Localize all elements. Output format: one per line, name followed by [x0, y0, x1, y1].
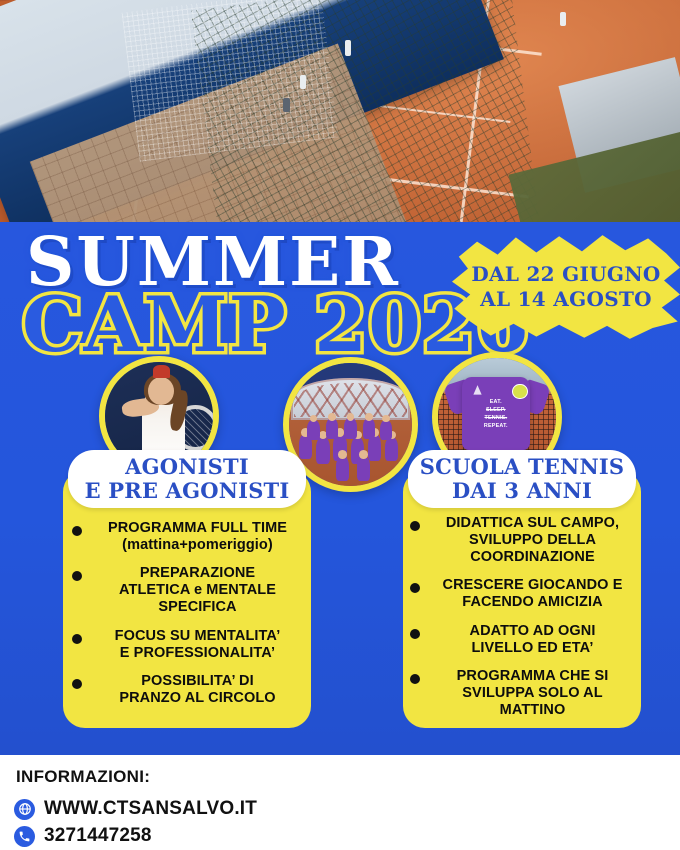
date-badge: DAL 22 GIUGNO AL 14 AGOSTO: [452, 233, 680, 341]
list-item-label: PROGRAMMA FULL TIME (mattina+pomeriggio): [91, 520, 304, 554]
camp-kid-head: [365, 413, 372, 420]
list-item-label: POSSIBILITA’ DI PRANZO AL CIRCOLO: [91, 673, 304, 707]
panel-scuola-tennis-list: DIDATTICA SUL CAMPO, SVILUPPO DELLA COOR…: [410, 515, 636, 730]
list-item: PREPARAZIONE ATLETICA e MENTALE SPECIFIC…: [72, 565, 304, 616]
camp-kid-head: [347, 413, 354, 420]
date-badge-text: DAL 22 GIUGNO AL 14 AGOSTO: [471, 262, 660, 312]
panel-agonisti-list: PROGRAMMA FULL TIME (mattina+pomeriggio)…: [72, 520, 304, 718]
panel-agonisti-heading: AGONISTI E PRE AGONISTI: [85, 455, 290, 503]
person-figure: [345, 40, 351, 56]
heading-line1: SCUOLA TENNIS: [420, 455, 624, 479]
footer: INFORMAZIONI: WWW.CTSANSALVO.IT 32714472…: [0, 755, 680, 850]
list-item-label: DIDATTICA SUL CAMPO, SVILUPPO DELLA COOR…: [429, 515, 636, 566]
tshirt-slogan-line1: EAT.: [469, 398, 523, 406]
list-item: FOCUS SU MENTALITA’ E PROFESSIONALITA’: [72, 628, 304, 662]
camp-kid-head: [328, 413, 335, 420]
camp-kid: [336, 456, 350, 481]
tshirt-club-badge: [512, 384, 527, 399]
summer-camp-poster: SUMMER CAMP 2026 DAL 22 GIUGNO AL 14 AGO…: [0, 0, 680, 850]
tshirt-slogan-line3: TENNIS.: [469, 414, 523, 422]
camp-kid: [357, 456, 371, 481]
list-item: PROGRAMMA FULL TIME (mattina+pomeriggio): [72, 520, 304, 554]
player-cap: [153, 365, 170, 378]
panel-scuola-tennis-header: SCUOLA TENNIS DAI 3 ANNI: [408, 450, 636, 508]
bullet-icon: [72, 634, 82, 644]
camp-kid: [326, 418, 338, 439]
panel-scuola-tennis-heading: SCUOLA TENNIS DAI 3 ANNI: [420, 455, 624, 503]
tshirt-slogan-line2: SLEEP.: [469, 406, 523, 414]
bullet-icon: [410, 674, 420, 684]
heading-line1: AGONISTI: [85, 455, 290, 479]
person-figure: [283, 98, 290, 112]
heading-line2: DAI 3 ANNI: [420, 479, 624, 503]
bullet-icon: [410, 521, 420, 531]
date-badge-line1: DAL 22 GIUGNO: [471, 262, 660, 287]
list-item-label: ADATTO AD OGNI LIVELLO ED ETA’: [429, 623, 636, 657]
bullet-icon: [410, 629, 420, 639]
tshirt-slogan-line4: REPEAT.: [469, 422, 523, 430]
bullet-icon: [72, 679, 82, 689]
camp-kid: [316, 437, 330, 464]
list-item-label: FOCUS SU MENTALITA’ E PROFESSIONALITA’: [91, 628, 304, 662]
bullet-icon: [410, 583, 420, 593]
camp-kid-head: [359, 450, 368, 459]
person-figure: [560, 12, 566, 26]
list-item-label: PROGRAMMA CHE SI SVILUPPA SOLO AL MATTIN…: [429, 668, 636, 719]
person-figure: [300, 75, 306, 89]
list-item: ADATTO AD OGNI LIVELLO ED ETA’: [410, 623, 636, 657]
list-item: POSSIBILITA’ DI PRANZO AL CIRCOLO: [72, 673, 304, 707]
phone-row[interactable]: 3271447258: [14, 825, 152, 847]
bullet-icon: [72, 571, 82, 581]
panel-agonisti-header: AGONISTI E PRE AGONISTI: [68, 450, 306, 508]
dome-truss: [294, 383, 407, 417]
camp-kid-head: [382, 415, 389, 422]
camp-kid: [307, 420, 319, 441]
camp-kid: [380, 420, 392, 441]
list-item: DIDATTICA SUL CAMPO, SVILUPPO DELLA COOR…: [410, 515, 636, 566]
camp-kid-head: [338, 450, 347, 459]
list-item: CRESCERE GIOCANDO E FACENDO AMICIZIA: [410, 577, 636, 611]
heading-line2: E PRE AGONISTI: [85, 479, 290, 503]
camp-kid: [344, 418, 356, 439]
list-item-label: PREPARAZIONE ATLETICA e MENTALE SPECIFIC…: [91, 565, 304, 616]
date-badge-line2: AL 14 AGOSTO: [471, 287, 660, 312]
list-item-label: CRESCERE GIOCANDO E FACENDO AMICIZIA: [429, 577, 636, 611]
phone-icon: [14, 826, 35, 847]
phone-text: 3271447258: [44, 825, 152, 847]
list-item: PROGRAMMA CHE SI SVILUPPA SOLO AL MATTIN…: [410, 668, 636, 719]
website-row[interactable]: WWW.CTSANSALVO.IT: [14, 798, 257, 820]
camp-kid: [363, 418, 375, 439]
globe-icon: [14, 799, 35, 820]
bullet-icon: [72, 526, 82, 536]
camp-kid: [385, 437, 399, 462]
tshirt-slogan: EAT. SLEEP. TENNIS. REPEAT.: [469, 398, 523, 430]
info-label: INFORMAZIONI:: [16, 767, 150, 787]
website-text: WWW.CTSANSALVO.IT: [44, 798, 257, 820]
